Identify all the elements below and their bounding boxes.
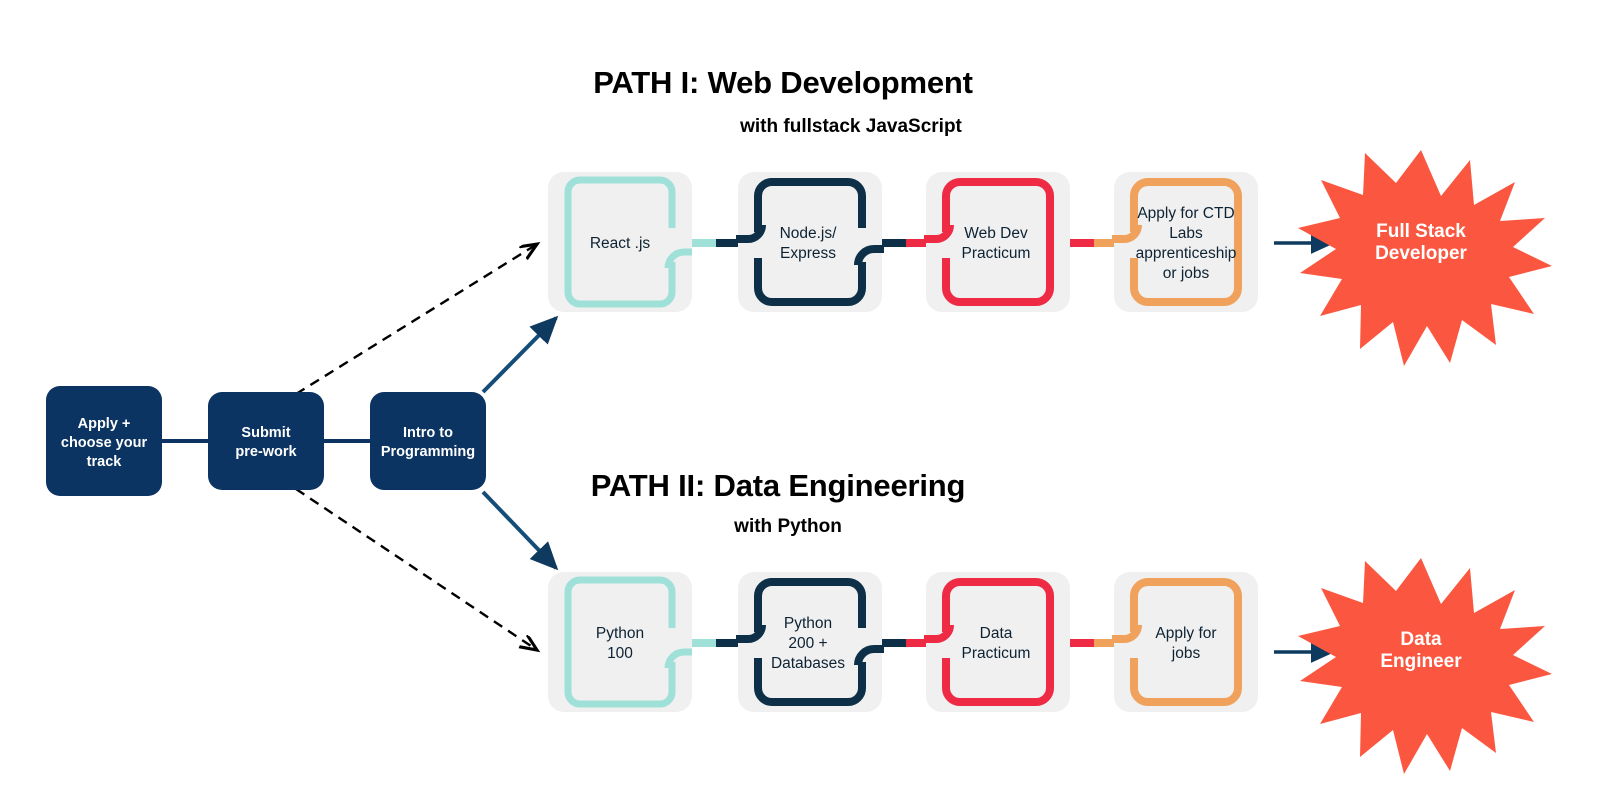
dashed-arrow-to-react	[296, 246, 534, 394]
outcome-full-stack-developer[interactable]: Full Stack Developer	[1298, 150, 1552, 366]
path-2-card-data-practicum[interactable]: Data Practicum	[924, 572, 1070, 712]
intake-step-apply[interactable]: Apply + choose your track	[46, 386, 162, 496]
path-2-title: PATH II: Data Engineering	[591, 468, 966, 503]
intake-step-prework-line-2: pre-work	[235, 444, 297, 460]
intake-step-apply-line-2: choose your	[61, 435, 148, 451]
path-1-card-applyctd-line-1: Apply for CTD	[1137, 205, 1234, 222]
path-2-card-python-100[interactable]: Python 100	[548, 572, 692, 712]
path-2-headings: PATH II: Data Engineering with Python	[591, 468, 966, 537]
outcome-full-stack-developer-line-2: Developer	[1375, 243, 1467, 264]
intake-step-apply-line-3: track	[87, 454, 123, 470]
solid-arrow-to-path1	[483, 318, 556, 392]
path-1-card-applyctd-line-2: Labs	[1169, 225, 1203, 242]
path-2-card-python100-line-2: 100	[607, 645, 633, 662]
path-1-card-react[interactable]: React .js	[548, 172, 692, 312]
path-1-title: PATH I: Web Development	[593, 65, 973, 100]
path-1-card-web-dev-practicum[interactable]: Web Dev Practicum	[924, 172, 1070, 312]
outcome-full-stack-developer-line-1: Full Stack	[1376, 221, 1466, 242]
path-2-subtitle: with Python	[733, 516, 842, 537]
path-2-card-python-200-databases[interactable]: Python 200 + Databases	[736, 572, 884, 712]
path-2-card-datapracticum-line-2: Practicum	[962, 645, 1031, 662]
path-1-card-node-express[interactable]: Node.js/ Express	[736, 172, 884, 312]
path-2-card-python200-line-2: 200 +	[788, 635, 827, 652]
pathways-diagram: Apply + choose your track Submit pre-wor…	[0, 0, 1608, 787]
intake-step-apply-line-1: Apply +	[78, 416, 131, 432]
path-1-card-applyctd-line-3: apprenticeship	[1136, 245, 1237, 262]
intake-step-prework[interactable]: Submit pre-work	[208, 392, 324, 490]
path-2-card-applyjobs-line-2: jobs	[1171, 645, 1201, 662]
path-2-card-apply-jobs[interactable]: Apply for jobs	[1112, 572, 1258, 712]
path-2-card-datapracticum-line-1: Data	[980, 625, 1013, 642]
path-1-card-node-line-1: Node.js/	[780, 225, 838, 242]
diagram-canvas: Apply + choose your track Submit pre-wor…	[0, 0, 1608, 787]
path-2-card-python100-line-1: Python	[596, 625, 644, 642]
dashed-arrow-to-python100	[296, 489, 534, 648]
path-1-card-node-line-2: Express	[780, 245, 836, 262]
path-2-card-applyjobs-line-1: Apply for	[1155, 625, 1216, 642]
path-1-subtitle: with fullstack JavaScript	[739, 116, 962, 137]
intake-step-intro-line-1: Intro to	[403, 425, 453, 441]
path-2-card-python200-line-3: Databases	[771, 655, 845, 672]
solid-arrow-to-path2	[483, 492, 556, 568]
path-1-card-applyctd-line-4: or jobs	[1163, 265, 1210, 282]
outcome-data-engineer-line-1: Data	[1400, 629, 1442, 650]
intake-step-prework-line-1: Submit	[241, 425, 290, 441]
path-1-card-webdev-line-2: Practicum	[962, 245, 1031, 262]
path-1-card-react-line-1: React .js	[590, 235, 651, 252]
outcome-data-engineer[interactable]: Data Engineer	[1298, 558, 1552, 774]
path-1-headings: PATH I: Web Development with fullstack J…	[593, 65, 973, 137]
intake-step-intro-line-2: Programming	[381, 444, 475, 460]
outcome-data-engineer-line-2: Engineer	[1380, 651, 1462, 672]
path-1-card-apply-ctd[interactable]: Apply for CTD Labs apprenticeship or job…	[1112, 172, 1258, 312]
path-1-card-webdev-line-1: Web Dev	[964, 225, 1028, 242]
solid-branch-arrows	[483, 318, 556, 568]
path-2-card-python200-line-1: Python	[784, 615, 832, 632]
intake-step-intro[interactable]: Intro to Programming	[370, 392, 486, 490]
